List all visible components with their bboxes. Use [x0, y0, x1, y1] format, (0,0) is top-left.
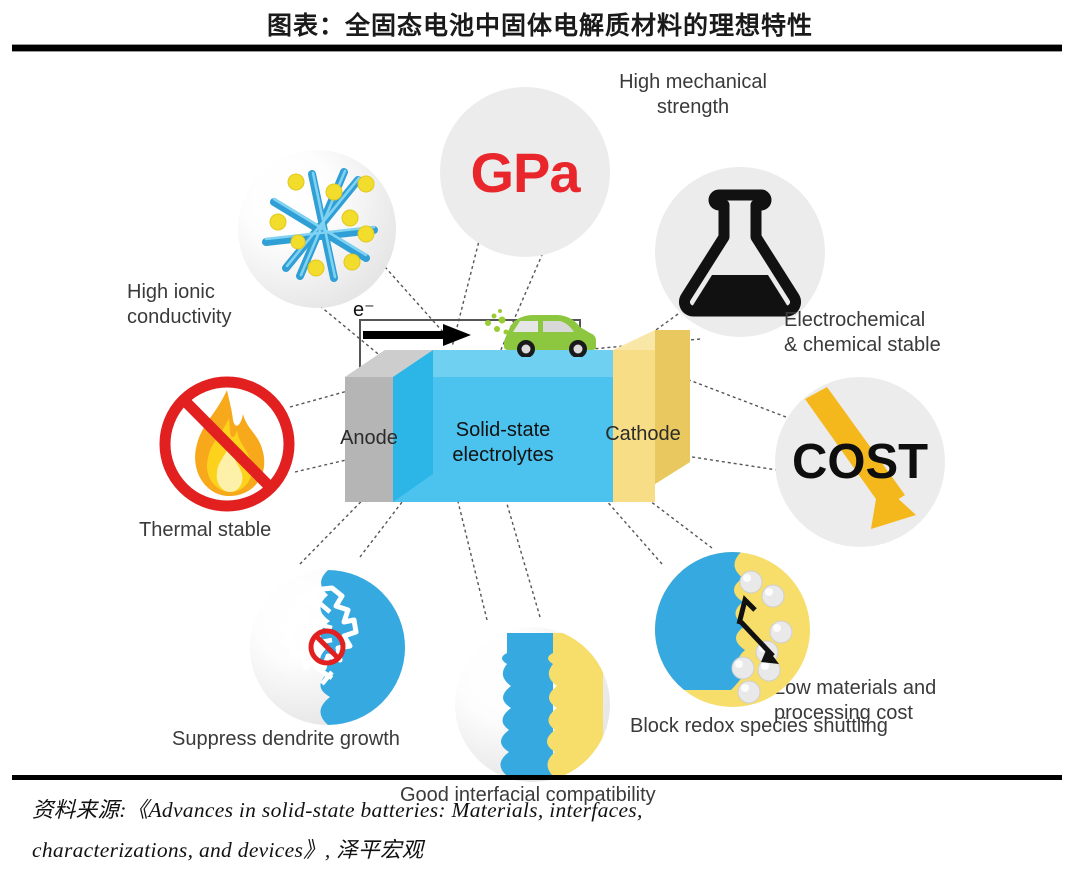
figure-page: 图表：全固态电池中固体电解质材料的理想特性: [0, 0, 1080, 883]
source-line-2: characterizations, and devices》, 泽平宏观: [32, 830, 1062, 870]
no-fire-icon: [145, 372, 310, 522]
svg-text:Cathode: Cathode: [605, 423, 681, 445]
electric-car-icon: [480, 307, 600, 357]
electron-arrow-icon: [363, 324, 471, 346]
label-high-mechanical-strength: High mechanical strength: [578, 70, 808, 120]
interface-contact-icon: [455, 627, 610, 782]
svg-text:electrolytes: electrolytes: [452, 444, 553, 466]
figure-canvas: High ionic conductivity GPa High mechani…: [0, 52, 1080, 772]
source-note: 资料来源:《Advances in solid-state batteries:…: [32, 790, 1062, 870]
source-divider: [12, 775, 1062, 780]
page-title: 图表：全固态电池中固体电解质材料的理想特性: [0, 6, 1080, 42]
label-electrochemical-chemical-stable: Electrochemical & chemical stable: [784, 308, 1034, 358]
source-line-1: 资料来源:《Advances in solid-state batteries:…: [32, 790, 1062, 830]
redox-shuttle-icon: [655, 552, 810, 707]
label-suppress-dendrite-growth: Suppress dendrite growth: [172, 727, 492, 752]
label-high-ionic-conductivity: High ionic conductivity: [127, 280, 307, 330]
cost-down-arrow-icon: COST: [775, 377, 945, 547]
svg-text:Solid-state: Solid-state: [456, 419, 551, 441]
electron-label: e⁻: [353, 297, 375, 322]
svg-text:Anode: Anode: [340, 427, 398, 449]
gpa-text: GPa: [470, 140, 579, 205]
title-divider-top: [12, 44, 1062, 52]
label-thermal-stable: Thermal stable: [139, 518, 359, 543]
cost-text: COST: [775, 377, 945, 547]
label-block-redox-species-shuttling: Block redox species shuttling: [630, 714, 960, 739]
dendrite-blocked-icon: [250, 570, 405, 725]
